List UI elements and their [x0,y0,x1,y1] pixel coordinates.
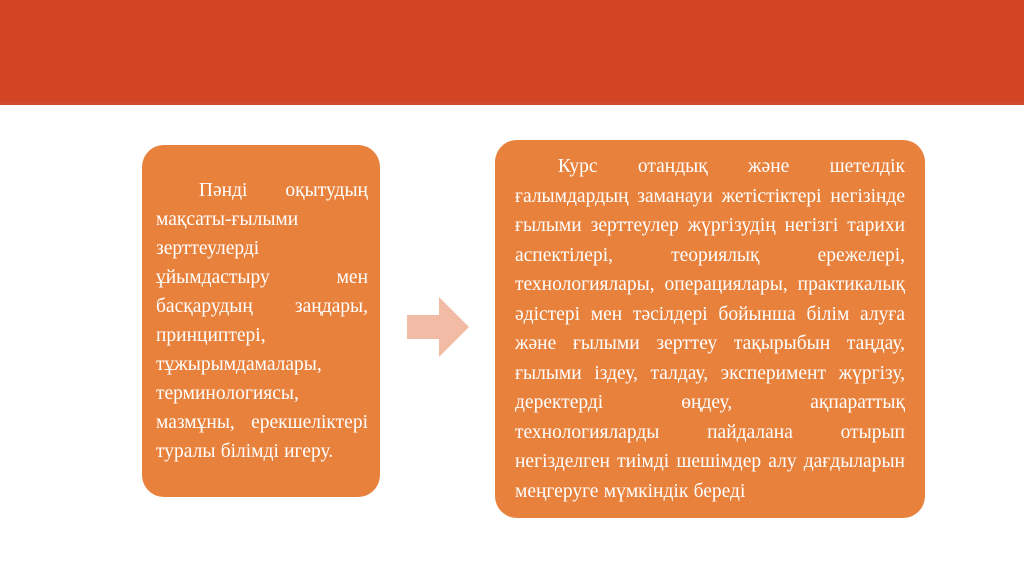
content-box-left: Пәнді оқытудың мақсаты-ғылыми зерттеулер… [142,145,380,497]
content-box-right: Курс отандық және шетелдік ғалымдардың з… [495,140,925,518]
right-arrow-icon [407,297,469,357]
slide-header-banner [0,0,1024,102]
slide: Пәнді оқытудың мақсаты-ғылыми зерттеулер… [0,0,1024,574]
content-box-left-text: Пәнді оқытудың мақсаты-ғылыми зерттеулер… [156,176,368,466]
content-box-right-text: Курс отандық және шетелдік ғалымдардың з… [515,152,905,506]
slide-content: Пәнді оқытудың мақсаты-ғылыми зерттеулер… [0,105,1024,574]
right-arrow-shape [407,297,469,357]
